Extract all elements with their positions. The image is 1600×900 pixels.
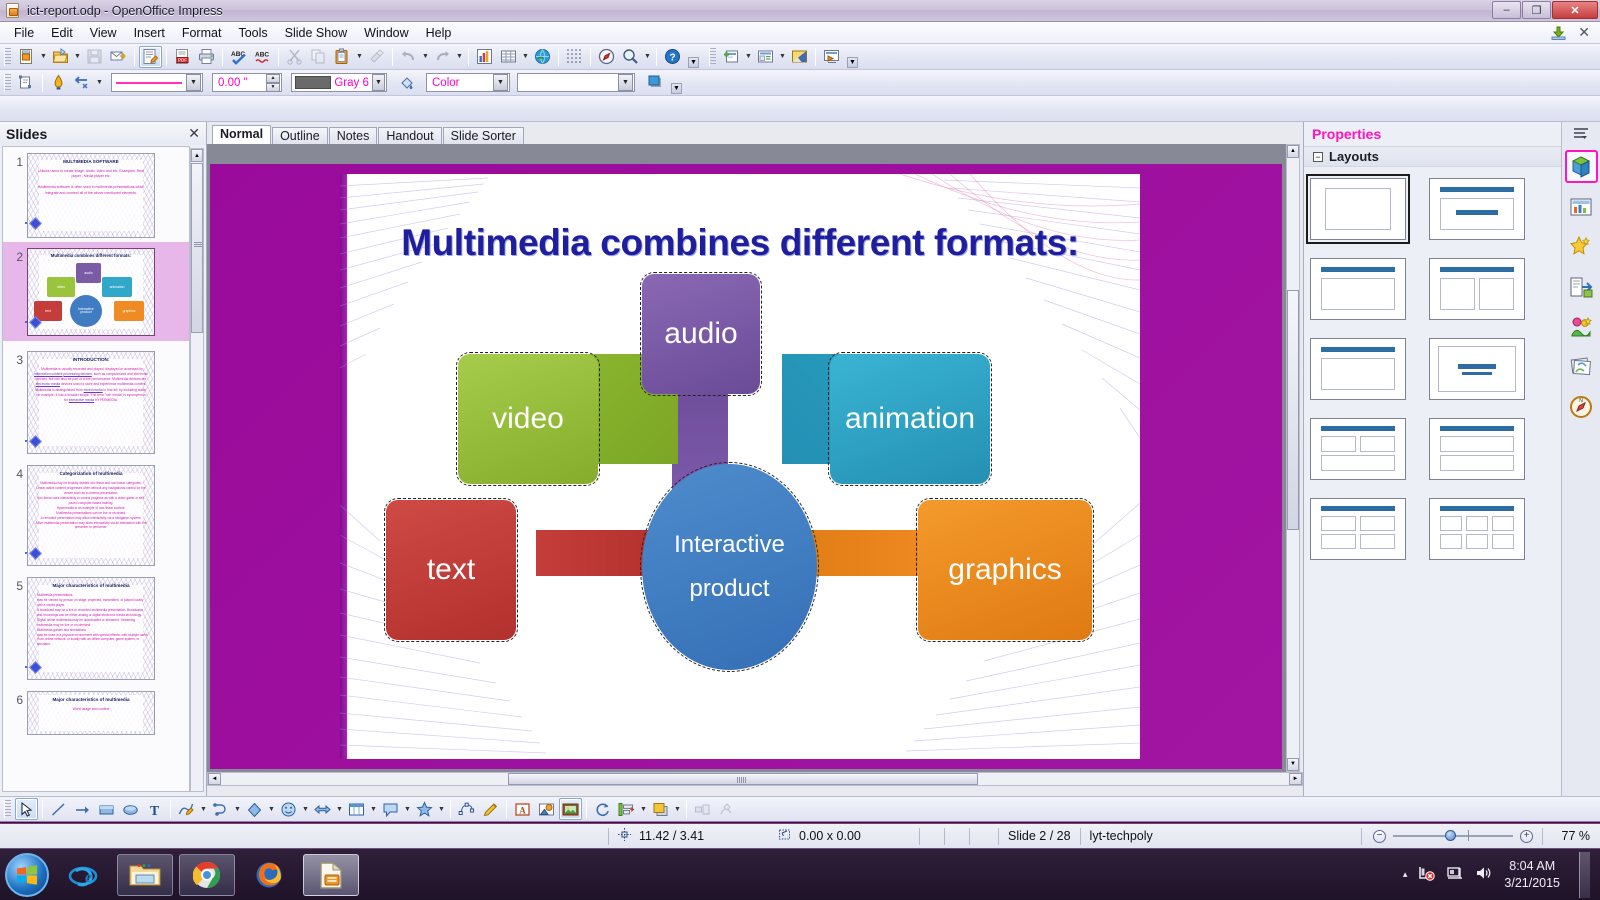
zoom-controls: − + 77 % — [1361, 828, 1600, 845]
slide-title[interactable]: Multimedia combines different formats: — [340, 222, 1140, 264]
node-audio-label: audio — [664, 317, 737, 352]
presentation-toolbar-grip[interactable] — [709, 48, 716, 66]
slide-thumbnail-item[interactable]: 3 INTRODUCTION: - Multimedia is usually … — [3, 345, 189, 454]
close-button[interactable]: ✕ — [1552, 1, 1598, 19]
sidebar-item-master-slides[interactable] — [1565, 190, 1598, 223]
node-animation[interactable]: animation — [830, 354, 990, 484]
window-controls: – ❐ ✕ — [1492, 1, 1598, 19]
slide-layout-button[interactable] — [754, 46, 777, 68]
line-fill-toolbar-overflow[interactable]: ▼ — [670, 72, 683, 94]
area-fill-combo[interactable]: ▼ — [517, 73, 635, 92]
slides-panel-header: Slides ✕ — [0, 122, 206, 145]
slides-panel-close-icon[interactable]: ✕ — [188, 125, 200, 142]
thumb-title: Major characteristics of multimedia — [28, 578, 154, 592]
drawing-toolbar: T ▼ ▼ ▼ ▼ ▼ ▼ ▼ — [0, 796, 1600, 822]
node-text-label: text — [427, 553, 475, 588]
cursor-position-segment: 11.42 / 3.41 — [609, 828, 769, 845]
standard-toolbar-overflow[interactable]: ▼ — [687, 46, 700, 68]
open-document-button[interactable] — [49, 46, 72, 68]
toolbar-filler — [0, 96, 1600, 122]
text-tool-button[interactable]: T — [143, 798, 166, 820]
toolbar-separator — [815, 48, 816, 66]
thumb-title: Multimedia combines different formats: — [28, 249, 154, 261]
zoom-slider-tick — [1468, 830, 1469, 841]
thumb-body: Multimedia presentationsmay be viewed by… — [28, 592, 154, 651]
area-style-value: Color — [427, 77, 464, 89]
toolbar-separator — [506, 800, 507, 818]
toolbar-separator — [134, 48, 135, 66]
tab-normal[interactable]: Normal — [212, 125, 271, 145]
tab-outline[interactable]: Outline — [272, 127, 328, 145]
thumb-title: INTRODUCTION: — [28, 352, 154, 366]
layouts-section-label: Layouts — [1329, 149, 1379, 164]
toolbar-separator — [42, 800, 43, 818]
new-slide-button[interactable] — [720, 46, 743, 68]
slide-thumbnail[interactable]: INTRODUCTION: - Multimedia is usually re… — [27, 351, 155, 454]
standard-toolbar: ▼ ▼ PDF ABC ABC — [0, 44, 1600, 70]
slide-thumbnail-item[interactable]: 5 Major characteristics of multimedia Mu… — [3, 571, 189, 680]
basic-shapes-button[interactable] — [243, 798, 266, 820]
zoom-in-button[interactable]: + — [1520, 830, 1533, 843]
insert-image-frame-button[interactable] — [559, 798, 582, 820]
thumb-node-graphics: graphics — [114, 301, 144, 321]
thumb-body: - Multimedia is usually recorded and pla… — [28, 366, 154, 407]
insert-table-button[interactable] — [497, 46, 520, 68]
insert-table-dropdown[interactable]: ▼ — [521, 46, 530, 68]
slide-layout-dropdown[interactable]: ▼ — [778, 46, 787, 68]
email-document-button[interactable] — [107, 46, 130, 68]
sidebar-settings-icon[interactable] — [1562, 122, 1600, 146]
impress-window: ict-report.odp - OpenOffice Impress – ❐ … — [0, 0, 1600, 900]
slide-thumbnail[interactable]: Major characteristics of multimedia Mult… — [27, 577, 155, 680]
menu-file[interactable]: File — [6, 24, 42, 42]
zoom-slider[interactable] — [1393, 835, 1513, 837]
scroll-down-arrow[interactable]: ▼ — [1287, 758, 1299, 771]
taskbar-file-explorer[interactable] — [117, 854, 173, 896]
layout-title-two-content[interactable] — [1429, 258, 1525, 320]
menu-help[interactable]: Help — [418, 24, 460, 42]
glue-points-dropdown[interactable]: ▼ — [95, 72, 104, 94]
toolbar-separator — [450, 800, 451, 818]
action-center-icon[interactable] — [1447, 865, 1464, 884]
redo-button[interactable] — [431, 46, 454, 68]
slides-panel-title: Slides — [6, 126, 47, 142]
start-slideshow-button[interactable] — [820, 46, 843, 68]
layouts-grid — [1306, 170, 1534, 770]
impress-document-icon — [5, 3, 21, 19]
horizontal-scroll-thumb[interactable] — [508, 773, 978, 785]
layout-blank[interactable] — [1310, 178, 1406, 240]
toolbar-separator — [686, 800, 687, 818]
node-animation-label: animation — [845, 402, 975, 437]
thumb-body: •Allows users to create image, audio, vi… — [28, 168, 154, 200]
slide-number: 2 — [7, 248, 27, 264]
line-and-fill-toolbar: ▼ ▼ 0.00 " ▲▼ Gray 6 ▼ Color ▼ — [0, 70, 1600, 96]
line-tool-button[interactable] — [47, 798, 70, 820]
area-style-combo[interactable]: Color ▼ — [426, 73, 510, 92]
layout-title-four-content[interactable] — [1310, 498, 1406, 560]
toolbar-separator — [468, 48, 469, 66]
connector-tool-dropdown[interactable]: ▼ — [233, 798, 242, 820]
thumb-title: Major characteristics of multimedia — [28, 692, 154, 706]
align-objects-dropdown[interactable]: ▼ — [639, 798, 648, 820]
taskbar-openoffice-impress[interactable] — [303, 854, 359, 896]
sidebar-item-custom-animation[interactable] — [1565, 230, 1598, 263]
svg-text:ABC: ABC — [255, 52, 269, 59]
zoom-dropdown[interactable]: ▼ — [643, 46, 652, 68]
object-size-segment: 0.00 x 0.00 — [769, 828, 919, 845]
status-bar: 11.42 / 3.41 0.00 x 0.00 Slide 2 / 28 ly… — [0, 823, 1600, 848]
sidebar-item-styles[interactable] — [1565, 350, 1598, 383]
thumb-title: Categorization of multimedia — [28, 466, 154, 480]
thumb-body: Multimedia may be broadly divided into l… — [28, 480, 154, 535]
stars-shapes-button[interactable] — [413, 798, 436, 820]
block-arrows-button[interactable] — [311, 798, 334, 820]
point-edit-button[interactable] — [15, 72, 38, 94]
node-center-label-line1: Interactive — [674, 531, 785, 559]
system-tray: ▴ 8:04 AM 3/21/2015 — [1403, 852, 1600, 898]
menu-slide-show[interactable]: Slide Show — [277, 24, 356, 42]
slide-animation-indicator — [25, 437, 41, 447]
insert-chart-button[interactable] — [473, 46, 496, 68]
area-style-dropdown[interactable]: ▼ — [493, 74, 508, 91]
toolbar-separator — [42, 74, 43, 92]
layout-title-six-content[interactable] — [1429, 498, 1525, 560]
svg-text:PDF: PDF — [178, 58, 187, 63]
line-style-preview — [116, 82, 182, 84]
zoom-level-value[interactable]: 77 % — [1550, 829, 1590, 843]
sidebar-item-slide-transition[interactable] — [1565, 270, 1598, 303]
select-tool-button[interactable] — [15, 798, 38, 820]
menu-insert[interactable]: Insert — [126, 24, 173, 42]
slide-animation-indicator — [25, 318, 41, 328]
node-video-label: video — [492, 402, 564, 437]
thumb-node-video: video — [47, 277, 75, 297]
export-pdf-button[interactable]: PDF — [171, 46, 194, 68]
layout-title-only[interactable] — [1310, 338, 1406, 400]
flowchart-shapes-button[interactable] — [345, 798, 368, 820]
clone-formatting-button[interactable] — [365, 46, 388, 68]
svg-text:N: N — [1579, 398, 1583, 404]
distribute-button[interactable] — [691, 798, 714, 820]
undo-button[interactable] — [397, 46, 420, 68]
drawing-toolbar-grip[interactable] — [4, 800, 11, 818]
menu-view[interactable]: View — [82, 24, 125, 42]
area-fill-dropdown[interactable]: ▼ — [618, 74, 633, 91]
insert-object-button[interactable] — [535, 798, 558, 820]
line-width-field[interactable]: 0.00 " ▲▼ — [212, 73, 282, 92]
zoom-out-button[interactable]: − — [1373, 830, 1386, 843]
node-graphics[interactable]: graphics — [918, 500, 1092, 640]
thumb-body: Word usage and context — [28, 706, 154, 716]
taskbar-mozilla-firefox[interactable] — [241, 854, 297, 896]
title-bar: ict-report.odp - OpenOffice Impress – ❐ … — [0, 0, 1600, 22]
properties-header: Properties ✕ — [1304, 122, 1600, 147]
node-interactive-product[interactable]: Interactive product — [642, 464, 817, 670]
tab-slide-sorter[interactable]: Slide Sorter — [443, 127, 524, 145]
basic-shapes-dropdown[interactable]: ▼ — [267, 798, 276, 820]
tray-clock[interactable]: 8:04 AM 3/21/2015 — [1504, 858, 1560, 892]
ellipse-tool-button[interactable] — [119, 798, 142, 820]
toolbar-grip[interactable] — [4, 48, 11, 66]
node-center-label-line2: product — [689, 575, 769, 603]
rotate-tool-button[interactable] — [591, 798, 614, 820]
redo-dropdown[interactable]: ▼ — [455, 46, 464, 68]
slide-animation-indicator — [25, 663, 41, 673]
object-size-value: 0.00 x 0.00 — [799, 829, 861, 843]
autospellcheck-button[interactable]: ABC — [251, 46, 274, 68]
volume-icon[interactable] — [1475, 865, 1493, 884]
toolbar-separator — [222, 48, 223, 66]
tray-date: 3/21/2015 — [1504, 875, 1560, 892]
paste-button[interactable] — [331, 46, 354, 68]
slide-thumbnail[interactable]: MULTIMEDIA SOFTWARE •Allows users to cre… — [27, 153, 155, 238]
display-grid-button[interactable] — [563, 46, 586, 68]
work-area: Normal Outline Notes Handout Slide Sorte… — [207, 122, 1303, 796]
view-tabs: Normal Outline Notes Handout Slide Sorte… — [212, 125, 525, 145]
slide-background[interactable]: Multimedia combines different formats: a… — [210, 164, 1282, 769]
edit-file-button[interactable] — [139, 46, 162, 68]
tab-notes[interactable]: Notes — [329, 127, 378, 145]
spelling-check-button[interactable]: ABC — [227, 46, 250, 68]
glue-points-tool-button[interactable] — [479, 798, 502, 820]
flowchart-shapes-dropdown[interactable]: ▼ — [369, 798, 378, 820]
toolbar-separator — [590, 48, 591, 66]
new-document-dropdown[interactable]: ▼ — [39, 46, 48, 68]
layouts-section-header[interactable]: − Layouts — [1304, 147, 1600, 167]
cursor-position-value: 11.42 / 3.41 — [639, 829, 704, 843]
scrollbar-thumb[interactable] — [191, 163, 203, 333]
tray-time: 8:04 AM — [1504, 858, 1560, 875]
canvas-horizontal-scrollbar[interactable]: ◄ ► — [207, 772, 1303, 786]
slide-thumbnail-item[interactable]: 1 MULTIMEDIA SOFTWARE •Allows users to c… — [3, 147, 189, 238]
paste-dropdown[interactable]: ▼ — [355, 46, 364, 68]
taskbar-google-chrome[interactable] — [179, 854, 235, 896]
line-color-value: Gray 6 — [331, 77, 372, 89]
slide-thumbnail[interactable]: Major characteristics of multimedia Word… — [27, 691, 155, 735]
save-document-button[interactable] — [83, 46, 106, 68]
menu-format[interactable]: Format — [174, 24, 230, 42]
node-audio[interactable]: audio — [642, 274, 760, 394]
slide-number: 4 — [7, 465, 27, 481]
slide-animation-indicator — [25, 219, 41, 229]
sidebar-rail: N — [1561, 122, 1600, 796]
layout-title-content[interactable] — [1429, 178, 1525, 240]
thumb-node-audio: audio — [76, 263, 101, 283]
menu-bar: File Edit View Insert Format Tools Slide… — [0, 22, 1600, 44]
glue-points-button[interactable] — [71, 72, 94, 94]
svg-text:A: A — [519, 805, 526, 815]
insert-text-box-button[interactable]: A — [511, 798, 534, 820]
cursor-position-icon — [618, 828, 631, 844]
line-width-spinner[interactable]: ▲▼ — [266, 74, 280, 91]
slide-number: 5 — [7, 577, 27, 593]
slide-design-button[interactable] — [788, 46, 811, 68]
shadow-draw-button[interactable] — [715, 798, 738, 820]
slide-number: 6 — [7, 691, 27, 707]
layout-title-two-content-over[interactable] — [1310, 418, 1406, 480]
sidebar-item-properties[interactable] — [1565, 150, 1598, 183]
svg-text:T: T — [150, 804, 160, 818]
layout-title-content-over-content[interactable] — [1429, 418, 1525, 480]
node-text[interactable]: text — [386, 500, 516, 640]
show-desktop-button[interactable] — [1579, 852, 1590, 898]
taskbar-internet-explorer[interactable]: e — [55, 854, 111, 896]
stars-shapes-dropdown[interactable]: ▼ — [437, 798, 446, 820]
line-color-combo[interactable]: Gray 6 ▼ — [291, 73, 387, 92]
arrange-objects-dropdown[interactable]: ▼ — [673, 798, 682, 820]
maximize-button[interactable]: ❐ — [1522, 1, 1551, 19]
curve-tool-button[interactable] — [175, 798, 198, 820]
thumb-title: MULTIMEDIA SOFTWARE — [28, 154, 154, 168]
scroll-right-arrow[interactable]: ► — [1289, 773, 1302, 785]
points-tool-button[interactable] — [455, 798, 478, 820]
slide-number: 1 — [7, 153, 27, 169]
line-style-combo[interactable]: ▼ — [111, 73, 203, 92]
scroll-up-arrow[interactable]: ▲ — [1287, 145, 1299, 158]
slide-info: Slide 2 / 28 — [999, 828, 1080, 845]
tab-handout[interactable]: Handout — [378, 127, 441, 145]
presentation-toolbar-overflow[interactable]: ▼ — [846, 46, 859, 68]
connector-tool-button[interactable] — [209, 798, 232, 820]
print-document-button[interactable] — [195, 46, 218, 68]
slide-thumbnail-item[interactable]: 4 Categorization of multimedia Multimedi… — [3, 459, 189, 566]
new-slide-dropdown[interactable]: ▼ — [744, 46, 753, 68]
toolbar-separator — [170, 800, 171, 818]
menu-edit[interactable]: Edit — [43, 24, 81, 42]
close-document-icon[interactable]: ✕ — [1578, 24, 1590, 41]
toolbar-separator — [278, 48, 279, 66]
thumb-node-center: Interactiveproduct — [70, 295, 102, 327]
slides-panel: Slides ✕ 1 MULTIMEDIA SOFTWARE •Allows u… — [0, 122, 207, 796]
slide-editable-area[interactable]: Multimedia combines different formats: a… — [340, 174, 1140, 759]
copy-button[interactable] — [307, 46, 330, 68]
svg-text:e: e — [85, 869, 92, 886]
curve-tool-dropdown[interactable]: ▼ — [199, 798, 208, 820]
menu-window[interactable]: Window — [356, 24, 416, 42]
toolbar-separator — [558, 48, 559, 66]
scroll-left-arrow[interactable]: ◄ — [208, 773, 221, 785]
canvas-vertical-scrollbar[interactable]: ▲ ▼ — [1286, 144, 1300, 772]
arrange-objects-button[interactable] — [649, 798, 672, 820]
toolbar-separator — [656, 48, 657, 66]
start-orb[interactable] — [5, 853, 49, 897]
slide-thumbnail[interactable]: Multimedia combines different formats: a… — [27, 248, 155, 336]
slide-animation-indicator — [25, 549, 41, 559]
node-graphics-label: graphics — [948, 553, 1061, 588]
scroll-up-arrow[interactable]: ▲ — [191, 149, 203, 162]
master-slide-name: lyt-techpoly — [1081, 828, 1162, 845]
vertical-scroll-thumb[interactable] — [1287, 290, 1299, 530]
symbol-shapes-button[interactable] — [277, 798, 300, 820]
rectangle-tool-button[interactable] — [95, 798, 118, 820]
shadow-toggle-button[interactable] — [644, 72, 667, 94]
toolbar-separator — [392, 48, 393, 66]
taskbar: e ▴ 8:04 AM 3/21/20 — [0, 848, 1600, 900]
properties-splitter[interactable] — [1536, 170, 1541, 770]
minimize-button[interactable]: – — [1492, 1, 1521, 19]
open-document-dropdown[interactable]: ▼ — [73, 46, 82, 68]
symbol-shapes-dropdown[interactable]: ▼ — [301, 798, 310, 820]
properties-panel: Properties ✕ − Layouts — [1303, 122, 1600, 796]
line-width-value: 0.00 " — [213, 77, 253, 89]
thumb-diagram: audio video animation text graphics Inte… — [28, 261, 154, 325]
sidebar-item-navigator[interactable]: N — [1565, 390, 1598, 423]
network-error-icon[interactable] — [1418, 865, 1436, 884]
help-button[interactable]: ? — [661, 46, 684, 68]
cut-button[interactable] — [283, 46, 306, 68]
menu-tools[interactable]: Tools — [230, 24, 275, 42]
slide-number: 3 — [7, 351, 27, 367]
toolbar-separator — [166, 48, 167, 66]
callout-shapes-dropdown[interactable]: ▼ — [403, 798, 412, 820]
thumb-node-animation: animation — [102, 277, 132, 297]
align-objects-button[interactable] — [615, 798, 638, 820]
insert-image-button[interactable] — [531, 46, 554, 68]
download-icon[interactable] — [1551, 26, 1566, 40]
zoom-slider-knob[interactable] — [1445, 830, 1456, 841]
zoom-button[interactable] — [619, 46, 642, 68]
sidebar-item-gallery[interactable] — [1565, 310, 1598, 343]
line-color-dropdown[interactable]: ▼ — [372, 74, 385, 91]
fontwork-gallery-button[interactable] — [47, 72, 70, 94]
layout-title-one-content[interactable] — [1310, 258, 1406, 320]
line-color-swatch — [295, 76, 331, 89]
node-video[interactable]: video — [458, 354, 598, 484]
window-title: ict-report.odp - OpenOffice Impress — [27, 4, 223, 18]
tray-expand-icon[interactable]: ▴ — [1403, 869, 1408, 880]
undo-dropdown[interactable]: ▼ — [421, 46, 430, 68]
svg-text:?: ? — [669, 52, 675, 63]
slide-thumbnail[interactable]: Categorization of multimedia Multimedia … — [27, 465, 155, 566]
arrow-tool-button[interactable] — [71, 798, 94, 820]
toolbar-separator — [586, 800, 587, 818]
slides-panel-scrollbar[interactable]: ▲ — [190, 148, 204, 792]
new-document-button[interactable] — [15, 46, 38, 68]
slide-thumbnail-list[interactable]: 1 MULTIMEDIA SOFTWARE •Allows users to c… — [2, 146, 190, 792]
slide-canvas-area[interactable]: Multimedia combines different formats: a… — [207, 144, 1289, 781]
line-style-dropdown[interactable]: ▼ — [186, 74, 201, 91]
callout-shapes-button[interactable] — [379, 798, 402, 820]
object-size-icon — [778, 828, 791, 844]
layout-centered-text[interactable] — [1429, 338, 1525, 400]
area-style-button[interactable] — [396, 72, 419, 94]
navigator-button[interactable] — [595, 46, 618, 68]
collapse-icon[interactable]: − — [1313, 152, 1323, 162]
block-arrows-dropdown[interactable]: ▼ — [335, 798, 344, 820]
properties-title: Properties — [1312, 126, 1381, 142]
line-fill-grip[interactable] — [4, 74, 11, 92]
slide-thumbnail-item[interactable]: 6 Major characteristics of multimedia Wo… — [3, 685, 189, 735]
slide-thumbnail-item[interactable]: 2 Multimedia combines different formats:… — [3, 242, 189, 341]
